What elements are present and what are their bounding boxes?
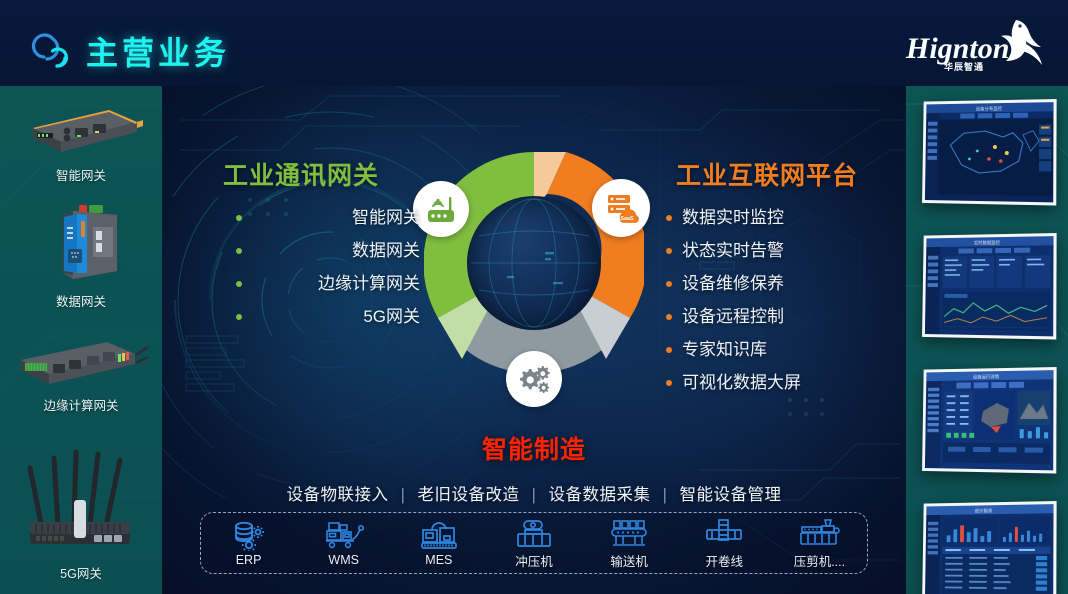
left-product-rail: 智能网关 (0, 86, 162, 594)
column-left-list: 智能网关 数据网关 边缘计算网关 5G网关 (176, 208, 426, 327)
subtitle-item: 设备数据采集 (548, 486, 650, 504)
subtitle-item: 智能设备管理 (679, 486, 781, 504)
map-dashboard-screenshot: 设备分布监控 (925, 102, 1054, 202)
screenshot-card-3[interactable]: 统计报表 (920, 502, 1056, 594)
list-item: 5G网关 (176, 307, 426, 327)
screenshot-card-1[interactable]: 实时数据监控 (920, 234, 1056, 338)
systems-strip: ERP (200, 512, 868, 574)
stamping-machine-icon (514, 517, 554, 549)
product-label: 智能网关 (0, 165, 162, 184)
system-label: 输送机 (610, 551, 648, 570)
system-item-press-shear[interactable]: 压剪机.... (772, 517, 867, 570)
column-left-heading: 工业通讯网关 (176, 156, 426, 192)
list-item: 设备远程控制 (662, 307, 912, 327)
svg-text:华辰智通: 华辰智通 (944, 61, 984, 72)
column-right-heading: 工业互联网平台 (662, 156, 912, 192)
screenshot-frame: 实时数据监控 (922, 233, 1057, 340)
screenshot-frame: 统计报表 (922, 501, 1057, 594)
screenshot-card-2[interactable]: 设备运行详情 (920, 368, 1056, 472)
system-label: 冲压机 (515, 551, 553, 570)
separator: | (394, 486, 413, 504)
product-item-0[interactable]: 智能网关 (0, 100, 162, 184)
product-item-2[interactable]: 边缘计算网关 (0, 330, 162, 414)
systems-row: ERP (201, 513, 867, 573)
system-item-erp[interactable]: ERP (201, 519, 296, 567)
5g-gateway-router-icon (10, 438, 152, 560)
screenshot-card-0[interactable]: 设备分布监控 (920, 100, 1056, 204)
manufacturing-station-icon (419, 519, 459, 551)
product-label: 数据网关 (0, 291, 162, 310)
system-item-wms[interactable]: WMS (296, 519, 391, 567)
conveyor-machine-icon (609, 517, 649, 549)
list-item: 设备维修保养 (662, 274, 912, 294)
press-shear-machine-icon (798, 517, 840, 549)
data-monitor-screenshot: 实时数据监控 (925, 236, 1054, 336)
donut-chart: SaaS (424, 152, 644, 412)
edge-computing-gateway-device-icon (11, 330, 151, 392)
slide-root: 主营业务 Hignton 华辰智通 (0, 0, 1068, 594)
system-label: 开卷线 (706, 551, 744, 570)
right-screenshot-rail: 设备分布监控 (906, 86, 1068, 594)
list-item: 专家知识库 (662, 340, 912, 360)
svg-text:SaaS: SaaS (620, 216, 634, 222)
donut-center-globe (467, 196, 601, 330)
system-label: 压剪机.... (794, 551, 845, 570)
screenshot-frame: 设备分布监控 (922, 99, 1057, 206)
separator: | (656, 486, 675, 504)
column-right-list: 数据实时监控 状态实时告警 设备维修保养 设备远程控制 专家知识库 可视化数据大… (662, 208, 912, 393)
smart-gateway-device-icon (17, 100, 145, 162)
system-label: ERP (236, 553, 262, 567)
product-item-3[interactable]: 5G网关 (0, 438, 162, 582)
list-item: 智能网关 (176, 208, 426, 228)
product-item-1[interactable]: 数据网关 (0, 193, 162, 310)
list-item: 可视化数据大屏 (662, 373, 912, 393)
list-item: 数据网关 (176, 241, 426, 261)
screenshot-frame: 设备运行详情 (922, 367, 1057, 474)
saas-server-cloud-icon: SaaS (592, 179, 650, 237)
interlocking-circles-icon (27, 26, 83, 74)
gazelle-icon: Hignton 华辰智通 (898, 14, 1054, 76)
column-iiot-platform: 工业互联网平台 数据实时监控 状态实时告警 设备维修保养 设备远程控制 专家知识… (662, 156, 912, 406)
list-item: 状态实时告警 (662, 241, 912, 261)
system-label: MES (425, 553, 452, 567)
system-item-uncoiling[interactable]: 开卷线 (677, 517, 772, 570)
product-label: 边缘计算网关 (0, 395, 162, 414)
page-title: 主营业务 (86, 28, 230, 74)
page-header: 主营业务 Hignton 华辰智通 (0, 0, 1068, 86)
system-label: WMS (328, 553, 359, 567)
product-label: 5G网关 (0, 563, 162, 582)
warehouse-cart-icon (324, 519, 364, 551)
separator: | (525, 486, 544, 504)
list-item: 边缘计算网关 (176, 274, 426, 294)
data-gateway-device-icon (17, 193, 145, 288)
brand-logo: Hignton 华辰智通 (898, 14, 1054, 76)
subtitle-item: 设备物联接入 (287, 486, 389, 504)
list-item: 数据实时监控 (662, 208, 912, 228)
globe-texture (467, 196, 601, 330)
svg-text:Hignton: Hignton (905, 32, 1009, 65)
report-table-screenshot: 统计报表 (925, 504, 1054, 594)
gears-icon (506, 351, 562, 407)
device-detail-screenshot: 设备运行详情 (925, 370, 1054, 470)
system-item-mes[interactable]: MES (391, 519, 486, 567)
database-gears-icon (232, 519, 266, 551)
uncoiling-line-icon (704, 517, 744, 549)
column-industrial-gateway: 工业通讯网关 智能网关 数据网关 边缘计算网关 5G网关 (176, 156, 426, 340)
subtitle-item: 老旧设备改造 (418, 486, 520, 504)
system-item-conveyor[interactable]: 输送机 (582, 517, 677, 570)
system-item-stamping[interactable]: 冲压机 (486, 517, 581, 570)
